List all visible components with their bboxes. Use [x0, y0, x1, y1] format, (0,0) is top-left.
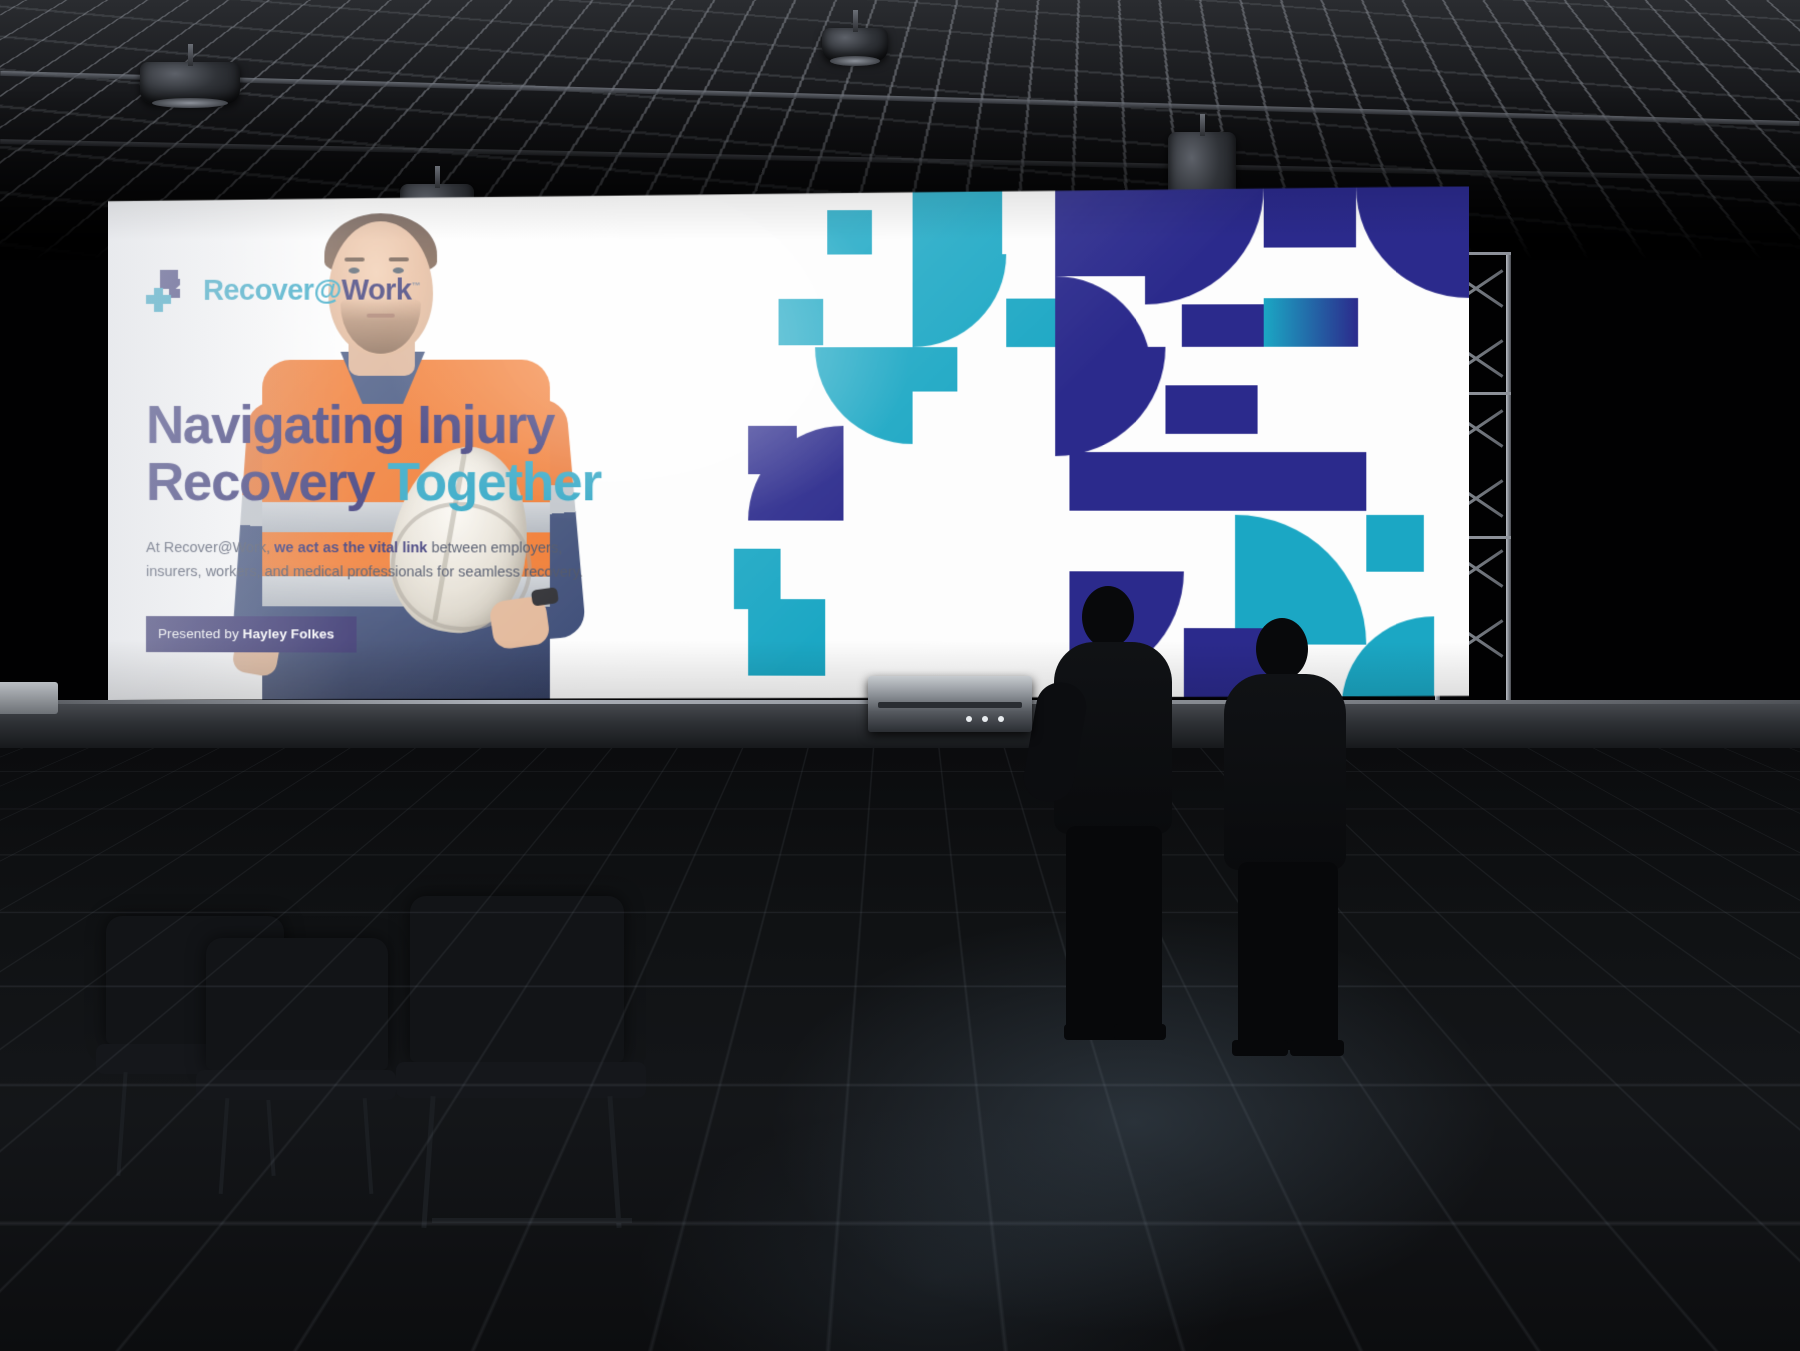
auditorium-scene: Recover@Work™ Navigating Injury Recovery… [0, 0, 1800, 1351]
stage-light [822, 28, 888, 62]
headline-line-2-accent: Together [388, 453, 601, 512]
slide-subcopy: At Recover@Work, we act as the vital lin… [146, 537, 619, 585]
brand-logo[interactable]: Recover@Work™ [146, 267, 710, 314]
page-title: Navigating Injury Recovery Together [146, 398, 710, 512]
wordmark-part1: Recover@ [203, 274, 341, 306]
presenter-badge: Presented by Hayley Folkes [146, 616, 357, 652]
presenter-name: Hayley Folkes [243, 627, 335, 642]
headline-line-2-plain: Recovery [146, 453, 388, 512]
trademark-symbol: ™ [411, 280, 420, 290]
auditorium-chair [196, 938, 396, 1190]
subcopy-part-1: At Recover@Work, [146, 540, 274, 556]
wordmark-part2: Work [341, 274, 411, 306]
viewer-silhouette-right [1198, 618, 1378, 1056]
recover-at-work-logo-mark-icon [146, 268, 192, 314]
headline-line-1: Navigating Injury [146, 396, 554, 455]
auditorium-chair [396, 896, 646, 1226]
subcopy-bold: we act as the vital link [274, 541, 427, 557]
stage-light [140, 62, 240, 104]
stage-equipment-box [0, 682, 58, 714]
presenter-prefix: Presented by [158, 626, 243, 641]
brand-wordmark: Recover@Work™ [203, 276, 420, 305]
av-console [868, 676, 1032, 732]
slide-content: Recover@Work™ Navigating Injury Recovery… [146, 267, 710, 654]
viewer-silhouette-left [1010, 586, 1190, 1046]
